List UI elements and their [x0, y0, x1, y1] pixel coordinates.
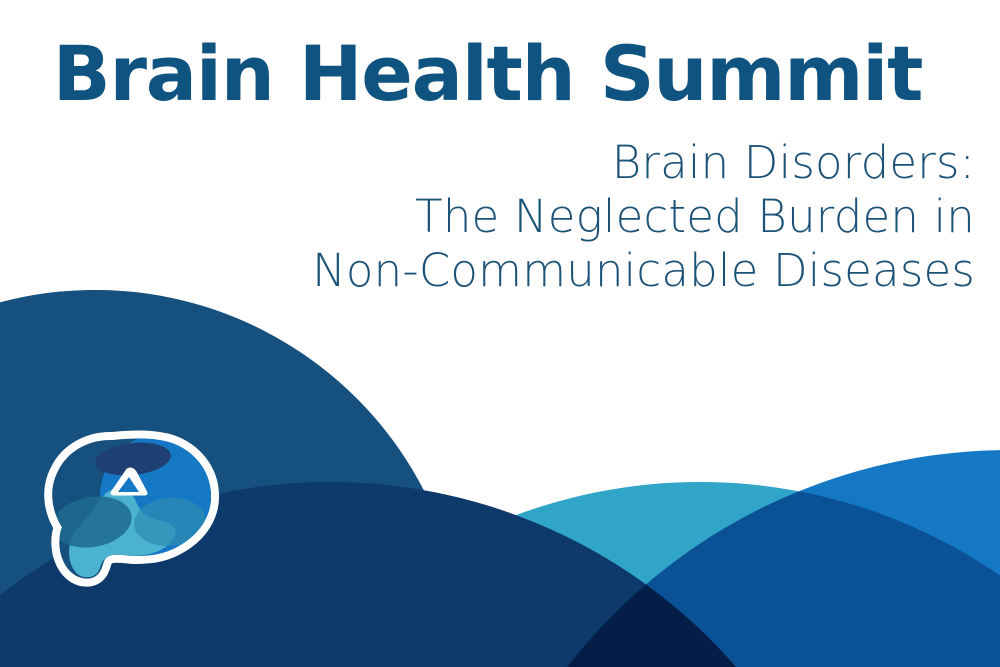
brain-health-summit-banner: Brain Health Summit Brain Disorders: The… [0, 0, 1000, 667]
subtitle-line-1: Brain Disorders: [0, 136, 975, 190]
subtitle-line-3: Non-Communicable Diseases [0, 244, 975, 298]
brain-icon [44, 430, 230, 596]
subtitle: Brain Disorders: The Neglected Burden in… [0, 136, 975, 298]
subtitle-line-2: The Neglected Burden in [0, 190, 975, 244]
page-title: Brain Health Summit [0, 36, 975, 112]
